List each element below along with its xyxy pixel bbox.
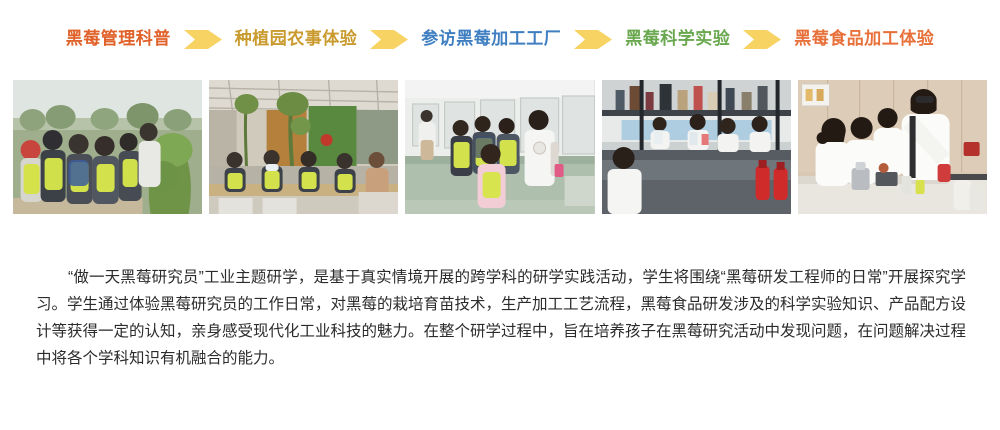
photo-greenhouse-workshop: [209, 80, 398, 214]
photo-gallery-strip: [0, 80, 1000, 220]
photo-science-lab-experiment: [602, 80, 791, 214]
chevron-right-arrow-icon: [370, 30, 408, 49]
step-label-1: 黑莓管理科普: [64, 30, 173, 47]
step-label-2: 种植园农事体验: [233, 30, 360, 47]
process-flow-steps: 黑莓管理科普 种植园农事体验 参访黑莓加工工厂 黑莓科学实验 黑莓食品加工体验: [0, 0, 1000, 76]
chevron-right-arrow-icon: [574, 30, 612, 49]
photo-factory-corridor-tour: [405, 80, 594, 214]
step-label-3: 参访黑莓加工工厂: [419, 30, 563, 47]
chevron-right-arrow-icon: [743, 30, 781, 49]
step-label-5: 黑莓食品加工体验: [792, 30, 936, 47]
photo-food-processing-workbench: [798, 80, 987, 214]
chevron-right-arrow-icon: [184, 30, 222, 49]
step-label-4: 黑莓科学实验: [623, 30, 732, 47]
program-description-paragraph: “做一天黑莓研究员”工业主题研学，是基于真实情境开展的跨学科的研学实践活动，学生…: [36, 264, 966, 372]
photo-orchard-field-visit: [13, 80, 202, 214]
